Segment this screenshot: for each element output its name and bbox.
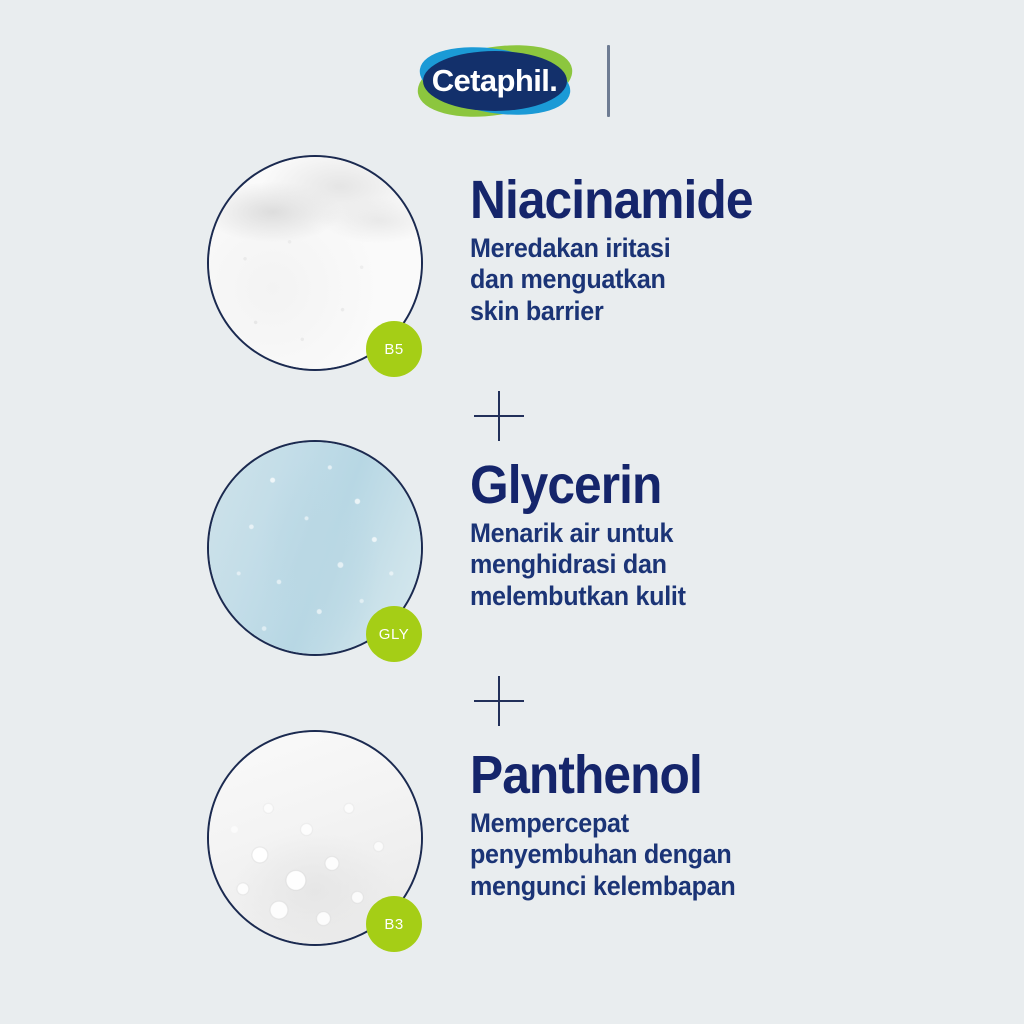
- ingredient-title: Panthenol: [470, 748, 902, 802]
- description-line: melembutkan kulit: [470, 581, 907, 612]
- plus-icon: [468, 385, 530, 447]
- description-line: menghidrasi dan: [470, 549, 907, 580]
- ingredient-row: B5 Niacinamide Meredakan iritasi dan men…: [0, 155, 1024, 385]
- ingredient-badge: B5: [366, 321, 422, 377]
- header: Cetaphil.: [0, 38, 1024, 124]
- description-line: mengunci kelembapan: [470, 871, 907, 902]
- ingredient-row: B3 Panthenol Mempercepat penyembuhan den…: [0, 730, 1024, 960]
- plus-icon: [468, 670, 530, 732]
- description-line: Meredakan iritasi: [470, 233, 907, 264]
- description-line: skin barrier: [470, 296, 907, 327]
- ingredient-badge: B3: [366, 896, 422, 952]
- ingredient-description: Mempercepat penyembuhan dengan mengunci …: [470, 808, 907, 902]
- description-line: penyembuhan dengan: [470, 839, 907, 870]
- ingredient-title: Glycerin: [470, 458, 902, 512]
- plus-vertical-bar: [498, 676, 500, 726]
- ingredient-title: Niacinamide: [470, 173, 902, 227]
- ingredient-row: GLY Glycerin Menarik air untuk menghidra…: [0, 440, 1024, 670]
- description-line: Menarik air untuk: [470, 518, 907, 549]
- logo-shape: [415, 40, 575, 122]
- ingredient-text: Glycerin Menarik air untuk menghidrasi d…: [470, 458, 940, 612]
- ingredient-badge: GLY: [366, 606, 422, 662]
- ingredient-text: Panthenol Mempercepat penyembuhan dengan…: [470, 748, 940, 902]
- ingredient-description: Menarik air untuk menghidrasi dan melemb…: [470, 518, 907, 612]
- description-line: dan menguatkan: [470, 264, 907, 295]
- ingredient-description: Meredakan iritasi dan menguatkan skin ba…: [470, 233, 907, 327]
- description-line: Mempercepat: [470, 808, 907, 839]
- plus-vertical-bar: [498, 391, 500, 441]
- ingredient-text: Niacinamide Meredakan iritasi dan mengua…: [470, 173, 940, 327]
- header-divider: [607, 45, 610, 117]
- cetaphil-logo: Cetaphil.: [415, 40, 575, 122]
